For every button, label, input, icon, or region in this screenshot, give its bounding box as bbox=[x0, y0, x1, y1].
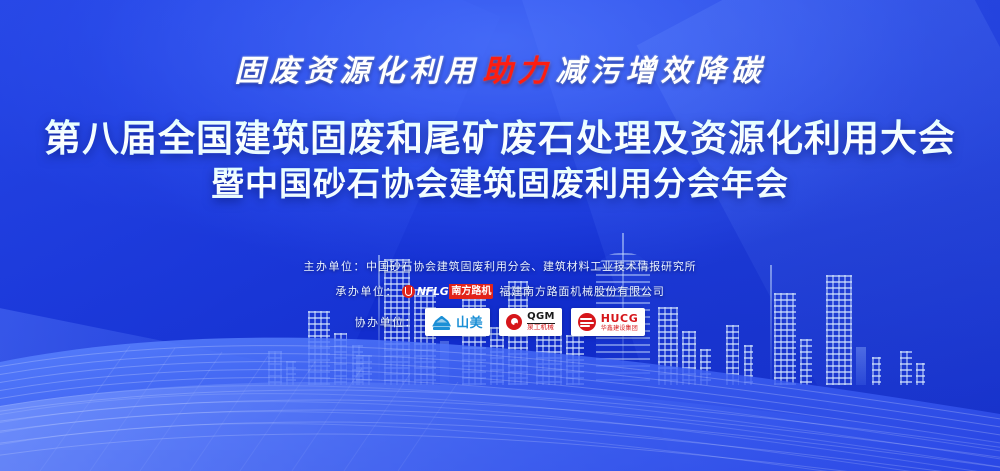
conference-title-main: 第八届全国建筑固废和尾矿废石处理及资源化利用大会 bbox=[0, 108, 1000, 162]
mountain-icon bbox=[432, 315, 451, 330]
co-organizer-row: 协办单位： 山美 QGM 泉工机械 bbox=[355, 308, 646, 336]
nflg-logo: NFLG 南方路机 bbox=[402, 283, 494, 299]
slogan-part-2: 减污增效降碳 bbox=[556, 54, 766, 89]
nflg-logo-cn: 南方路机 bbox=[449, 284, 493, 299]
sponsor-logo-cards: 山美 QGM 泉工机械 HUCG bbox=[425, 308, 645, 336]
sponsor-logo-shanmei: 山美 bbox=[425, 308, 490, 336]
hucg-label-en: HUCG bbox=[601, 313, 639, 324]
qgm-label-en: QGM bbox=[527, 312, 555, 324]
slogan-part-1: 固废资源化利用 bbox=[235, 54, 480, 89]
organizer-label: 承办单位： bbox=[335, 283, 398, 299]
qgm-text-block: QGM 泉工机械 bbox=[527, 312, 555, 332]
nflg-logo-en: NFLG bbox=[416, 285, 450, 298]
nflg-mark-icon bbox=[402, 285, 415, 298]
banner-content: 固废资源化利用助力减污增效降碳 第八届全国建筑固废和尾矿废石处理及资源化利用大会… bbox=[0, 0, 1000, 471]
shanmei-label: 山美 bbox=[456, 316, 483, 329]
host-text: 中国砂石协会建筑固废利用分会、建筑材料工业技术情报研究所 bbox=[366, 258, 696, 274]
slogan-highlight: 助力 bbox=[483, 54, 553, 89]
organizer-row: 承办单位： NFLG 南方路机 福建南方路面机械股份有限公司 bbox=[335, 283, 664, 299]
sponsor-logo-qgm: QGM 泉工机械 bbox=[499, 308, 562, 336]
host-label: 主办单位： bbox=[304, 258, 367, 274]
hucg-circle-icon bbox=[578, 313, 596, 331]
credits-block: 主办单位： 中国砂石协会建筑固废利用分会、建筑材料工业技术情报研究所 承办单位：… bbox=[0, 258, 1000, 336]
conference-banner: 固废资源化利用助力减污增效降碳 第八届全国建筑固废和尾矿废石处理及资源化利用大会… bbox=[0, 0, 1000, 471]
conference-title-sub: 暨中国砂石协会建筑固废利用分会年会 bbox=[0, 157, 1000, 205]
hucg-label-cn: 华鑫建设集团 bbox=[601, 326, 639, 332]
banner-slogan: 固废资源化利用助力减污增效降碳 bbox=[0, 46, 1000, 90]
hucg-text-block: HUCG 华鑫建设集团 bbox=[601, 313, 639, 332]
co-organizer-label: 协办单位： bbox=[355, 314, 418, 330]
host-row: 主办单位： 中国砂石协会建筑固废利用分会、建筑材料工业技术情报研究所 bbox=[304, 258, 697, 274]
qgm-circle-icon bbox=[506, 314, 522, 330]
qgm-label-cn: 泉工机械 bbox=[527, 325, 555, 332]
organizer-text: 福建南方路面机械股份有限公司 bbox=[499, 283, 664, 299]
sponsor-logo-hucg: HUCG 华鑫建设集团 bbox=[571, 308, 646, 336]
